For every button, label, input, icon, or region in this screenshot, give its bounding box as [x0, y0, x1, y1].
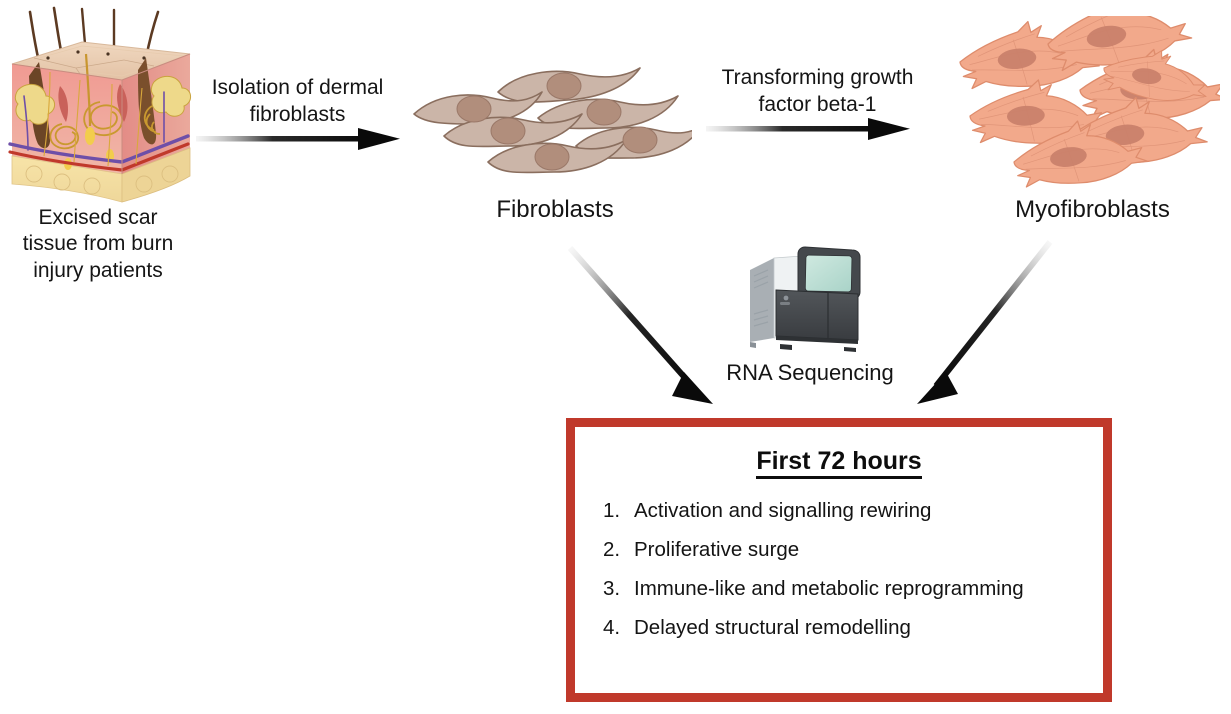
arrow-isolation [196, 128, 400, 150]
list-item-text: Immune-like and metabolic reprogramming [634, 577, 1093, 601]
results-box: First 72 hours 1. Activation and signall… [566, 418, 1112, 702]
list-item: 4. Delayed structural remodelling [603, 616, 1093, 640]
list-item-number: 4. [603, 616, 634, 640]
list-item-text: Delayed structural remodelling [634, 616, 1093, 640]
fibroblasts-icon [412, 62, 692, 197]
arrow-isolation-label: Isolation of dermal fibroblasts [190, 74, 405, 129]
list-item: 1. Activation and signalling rewiring [603, 499, 1093, 523]
results-title: First 72 hours [575, 447, 1103, 476]
myofibroblasts-caption: Myofibroblasts [960, 196, 1225, 225]
myofibroblasts-icon [952, 16, 1220, 196]
arrow-tgfb-label: Transforming growth factor beta-1 [700, 64, 935, 119]
list-item-text: Activation and signalling rewiring [634, 499, 1093, 523]
list-item-number: 1. [603, 499, 634, 523]
diagram-canvas: Excised scar tissue from burn injury pat… [0, 0, 1231, 714]
fibroblasts-caption: Fibroblasts [430, 196, 680, 225]
list-item: 3. Immune-like and metabolic reprogrammi… [603, 577, 1093, 601]
rna-sequencer-icon [740, 244, 870, 356]
list-item: 2. Proliferative surge [603, 538, 1093, 562]
list-item-number: 3. [603, 577, 634, 601]
skin-caption: Excised scar tissue from burn injury pat… [0, 205, 196, 284]
list-item-number: 2. [603, 538, 634, 562]
arrow-myofibroblasts-to-results [917, 242, 1050, 404]
rna-sequencing-caption: RNA Sequencing [690, 360, 930, 386]
arrow-tgfb [706, 118, 910, 140]
results-list: 1. Activation and signalling rewiring 2.… [603, 499, 1093, 655]
list-item-text: Proliferative surge [634, 538, 1093, 562]
skin-tissue-icon [4, 6, 200, 206]
